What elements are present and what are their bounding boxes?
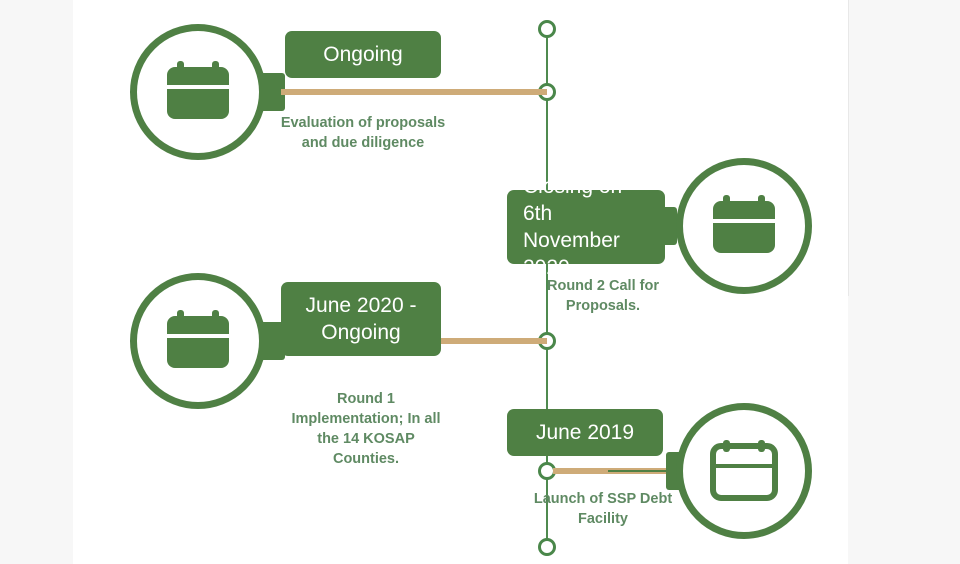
left-gutter	[0, 0, 73, 564]
timeline-infographic: Ongoing Evaluation of proposals and due …	[0, 0, 960, 564]
badge-tail-2	[651, 207, 677, 245]
caption-line: Evaluation of proposals	[273, 113, 453, 133]
calendar-icon-circle-2	[676, 158, 812, 294]
calendar-icon	[161, 308, 235, 374]
calendar-icon-circle-1	[130, 24, 266, 160]
caption-line: Implementation; In all	[273, 409, 459, 429]
calendar-icon	[707, 438, 781, 504]
caption-round-1-implementation: Round 1 Implementation; In all the 14 KO…	[273, 389, 459, 469]
caption-line: Facility	[513, 509, 693, 529]
caption-line: and due diligence	[273, 133, 453, 153]
timeline-canvas: Ongoing Evaluation of proposals and due …	[73, 0, 848, 564]
caption-line: the 14 KOSAP	[273, 429, 459, 449]
connector-3	[433, 338, 547, 344]
calendar-icon-circle-4	[676, 403, 812, 539]
caption-ssp-debt-facility-launch: Launch of SSP Debt Facility	[513, 489, 693, 529]
caption-line: Proposals.	[513, 296, 693, 316]
calendar-icon-circle-3	[130, 273, 266, 409]
badge-line: June 2020 -	[306, 292, 417, 319]
date-badge-round-2-call[interactable]: Closing on 6th November 2020	[507, 190, 665, 264]
date-badge-round-1-implementation[interactable]: June 2020 - Ongoing	[281, 282, 441, 356]
calendar-icon	[707, 193, 781, 259]
calendar-icon	[161, 59, 235, 125]
date-badge-evaluation[interactable]: Ongoing	[285, 31, 441, 78]
caption-line: Launch of SSP Debt	[513, 489, 693, 509]
badge-line: Closing on 6th	[523, 173, 649, 227]
caption-round-2-call: Round 2 Call for Proposals.	[513, 276, 693, 316]
badge-line: November 2020	[523, 227, 649, 281]
connector-1	[281, 89, 547, 95]
badge-line: Ongoing	[321, 319, 400, 346]
caption-evaluation: Evaluation of proposals and due diligenc…	[273, 113, 453, 153]
caption-line: Counties.	[273, 449, 459, 469]
timeline-node-0[interactable]	[538, 20, 556, 38]
date-badge-ssp-debt-facility-launch[interactable]: June 2019	[507, 409, 663, 456]
caption-line: Round 2 Call for	[513, 276, 693, 296]
right-gutter	[848, 0, 960, 296]
caption-line: Round 1	[273, 389, 459, 409]
timeline-node-5[interactable]	[538, 538, 556, 556]
